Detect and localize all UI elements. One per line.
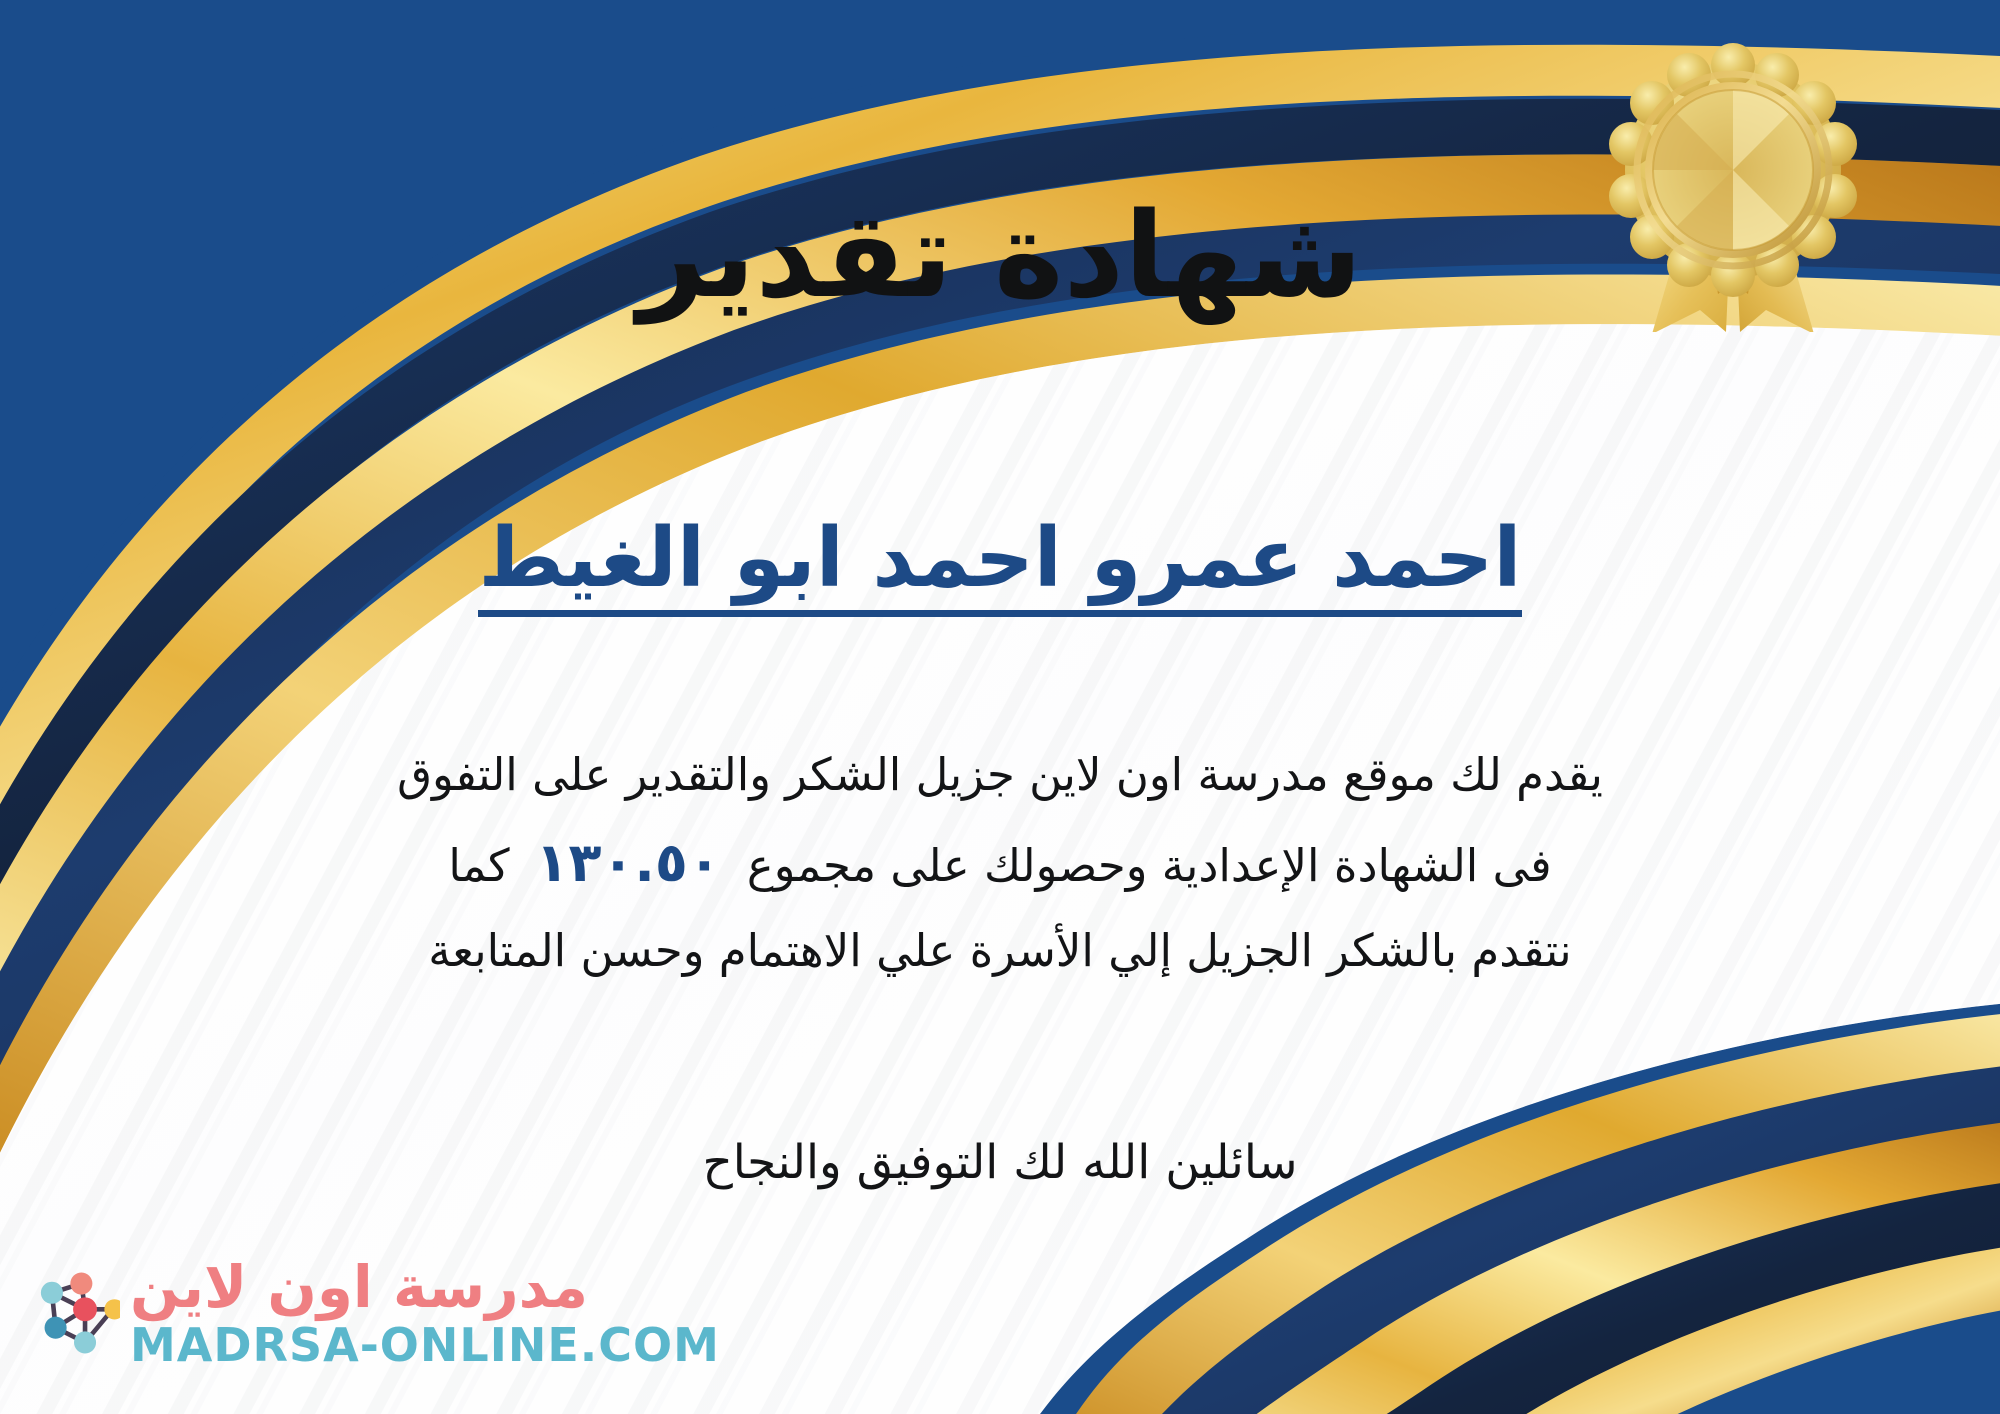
body-line-3: نتقدم بالشكر الجزيل إلي الأسرة علي الاهت… (180, 911, 1820, 991)
body-line-1: يقدم لك موقع مدرسة اون لاين جزيل الشكر و… (180, 735, 1820, 815)
brand-website: MADRSA-ONLINE.COM (130, 1322, 720, 1368)
brand-text: مدرسة اون لاين MADRSA-ONLINE.COM (130, 1258, 720, 1368)
body-line-2: فى الشهادة الإعدادية وحصولك على مجموع١٣٠… (180, 815, 1820, 911)
recipient-name: احمد عمرو احمد ابو الغيط (478, 511, 1521, 617)
network-nodes-icon (28, 1267, 120, 1359)
brand-logo[interactable]: مدرسة اون لاين MADRSA-ONLINE.COM (28, 1258, 720, 1368)
certificate-body: يقدم لك موقع مدرسة اون لاين جزيل الشكر و… (180, 735, 1820, 991)
certificate-canvas: شهادة تقدير احمد عمرو احمد ابو الغيط يقد… (0, 0, 2000, 1414)
recipient-name-line: احمد عمرو احمد ابو الغيط (0, 512, 2000, 606)
gold-award-medal-icon (1608, 42, 1858, 332)
closing-wish: سائلين الله لك التوفيق والنجاح (0, 1128, 2000, 1199)
grade-value: ١٣٠.٥٠ (510, 831, 747, 894)
body-line-2-prefix: فى الشهادة الإعدادية وحصولك على مجموع (747, 839, 1552, 892)
body-line-2-suffix: كما (448, 839, 509, 892)
brand-arabic-name: مدرسة اون لاين (130, 1258, 588, 1316)
